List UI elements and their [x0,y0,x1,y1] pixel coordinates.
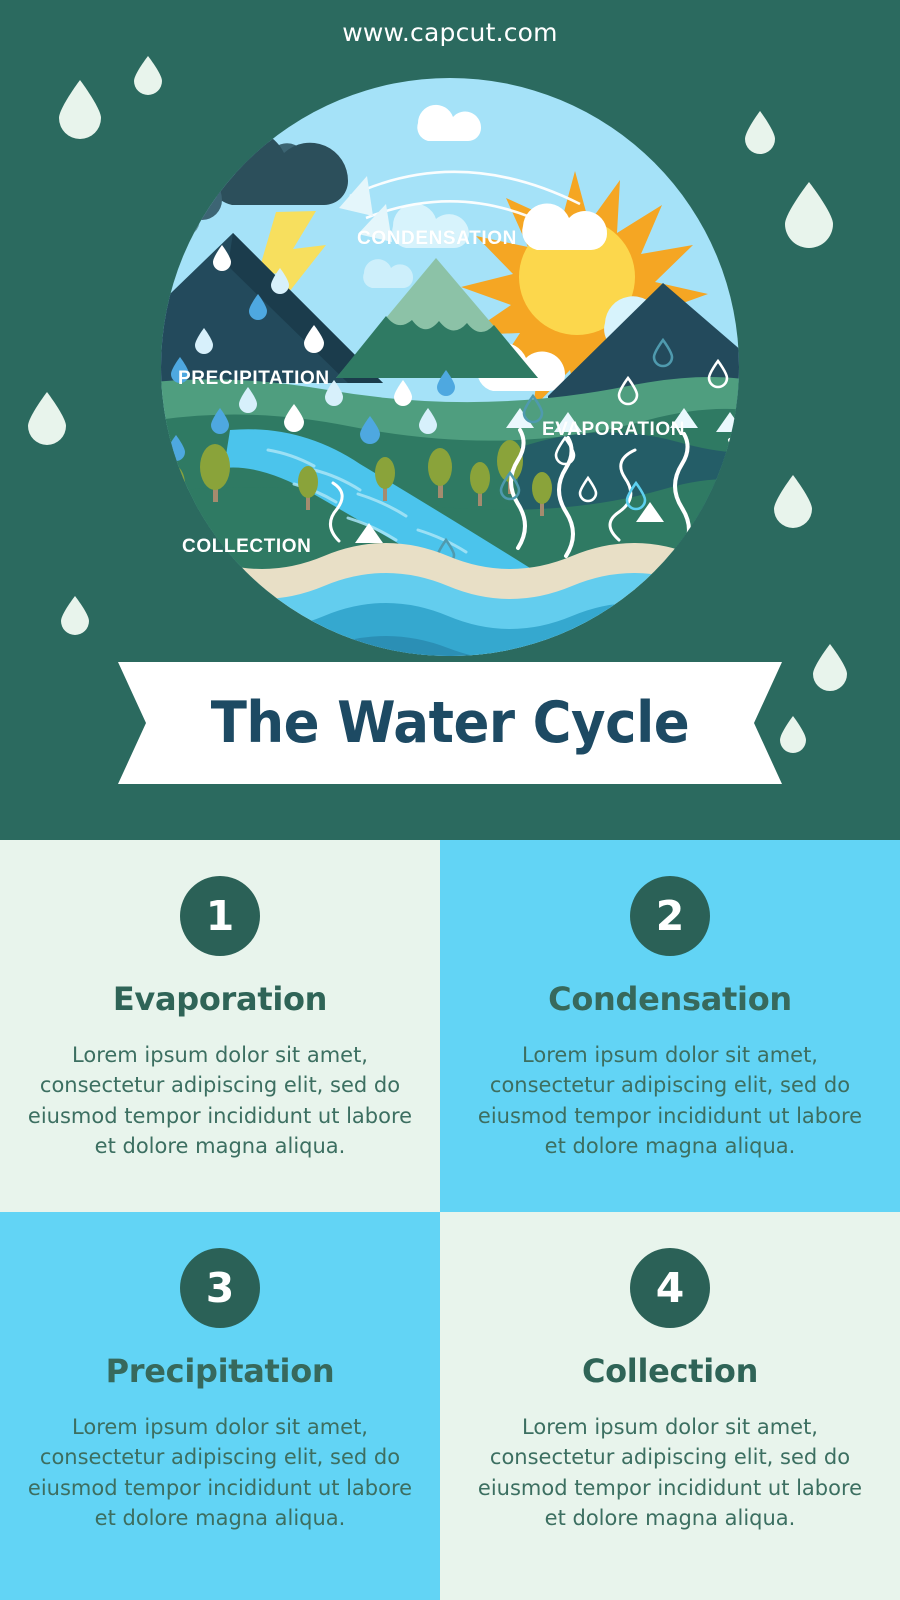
hero-section: www.capcut.com [0,0,900,840]
storm-cloud-icon [118,157,222,220]
scene-label-condensation: CONDENSATION [357,228,517,250]
steps-grid: 1 Evaporation Lorem ipsum dolor sit amet… [0,840,900,1600]
step-number-badge: 4 [630,1248,710,1328]
water-cycle-illustration [118,78,782,656]
title-ribbon: The Water Cycle [118,662,782,784]
raindrop-icon [812,643,848,691]
step-card-evaporation[interactable]: 1 Evaporation Lorem ipsum dolor sit amet… [0,840,440,1212]
storm-cloud-icon [118,179,200,238]
scene-label-collection: COLLECTION [182,536,312,558]
tree-icon [161,465,185,517]
watermark-url: www.capcut.com [0,18,900,47]
raindrop-icon [783,180,835,248]
step-description: Lorem ipsum dolor sit amet, consectetur … [478,1412,863,1534]
step-card-condensation[interactable]: 2 Condensation Lorem ipsum dolor sit ame… [440,840,900,1212]
step-description: Lorem ipsum dolor sit amet, consectetur … [473,1040,868,1162]
step-card-precipitation[interactable]: 3 Precipitation Lorem ipsum dolor sit am… [0,1212,440,1600]
step-title: Evaporation [113,980,327,1018]
scene-label-evaporation: EVAPORATION [542,419,685,441]
ocean-wave-icon [118,543,782,656]
step-number-badge: 1 [180,876,260,956]
raindrop-icon [60,595,90,635]
raindrop-icon [57,78,103,140]
step-title: Precipitation [106,1352,335,1390]
step-title: Collection [582,1352,758,1390]
step-description: Lorem ipsum dolor sit amet, consectetur … [23,1412,418,1534]
page-title: The Water Cycle [141,662,759,784]
raindrop-icon [779,715,807,753]
step-card-collection[interactable]: 4 Collection Lorem ipsum dolor sit amet,… [440,1212,900,1600]
step-number-badge: 2 [630,876,710,956]
infographic-page: www.capcut.com [0,0,900,1600]
step-title: Condensation [548,980,792,1018]
scene-label-precipitation: PRECIPITATION [178,368,330,390]
step-description: Lorem ipsum dolor sit amet, consectetur … [25,1040,415,1162]
step-number-badge: 3 [180,1248,260,1328]
raindrop-icon [26,390,68,446]
